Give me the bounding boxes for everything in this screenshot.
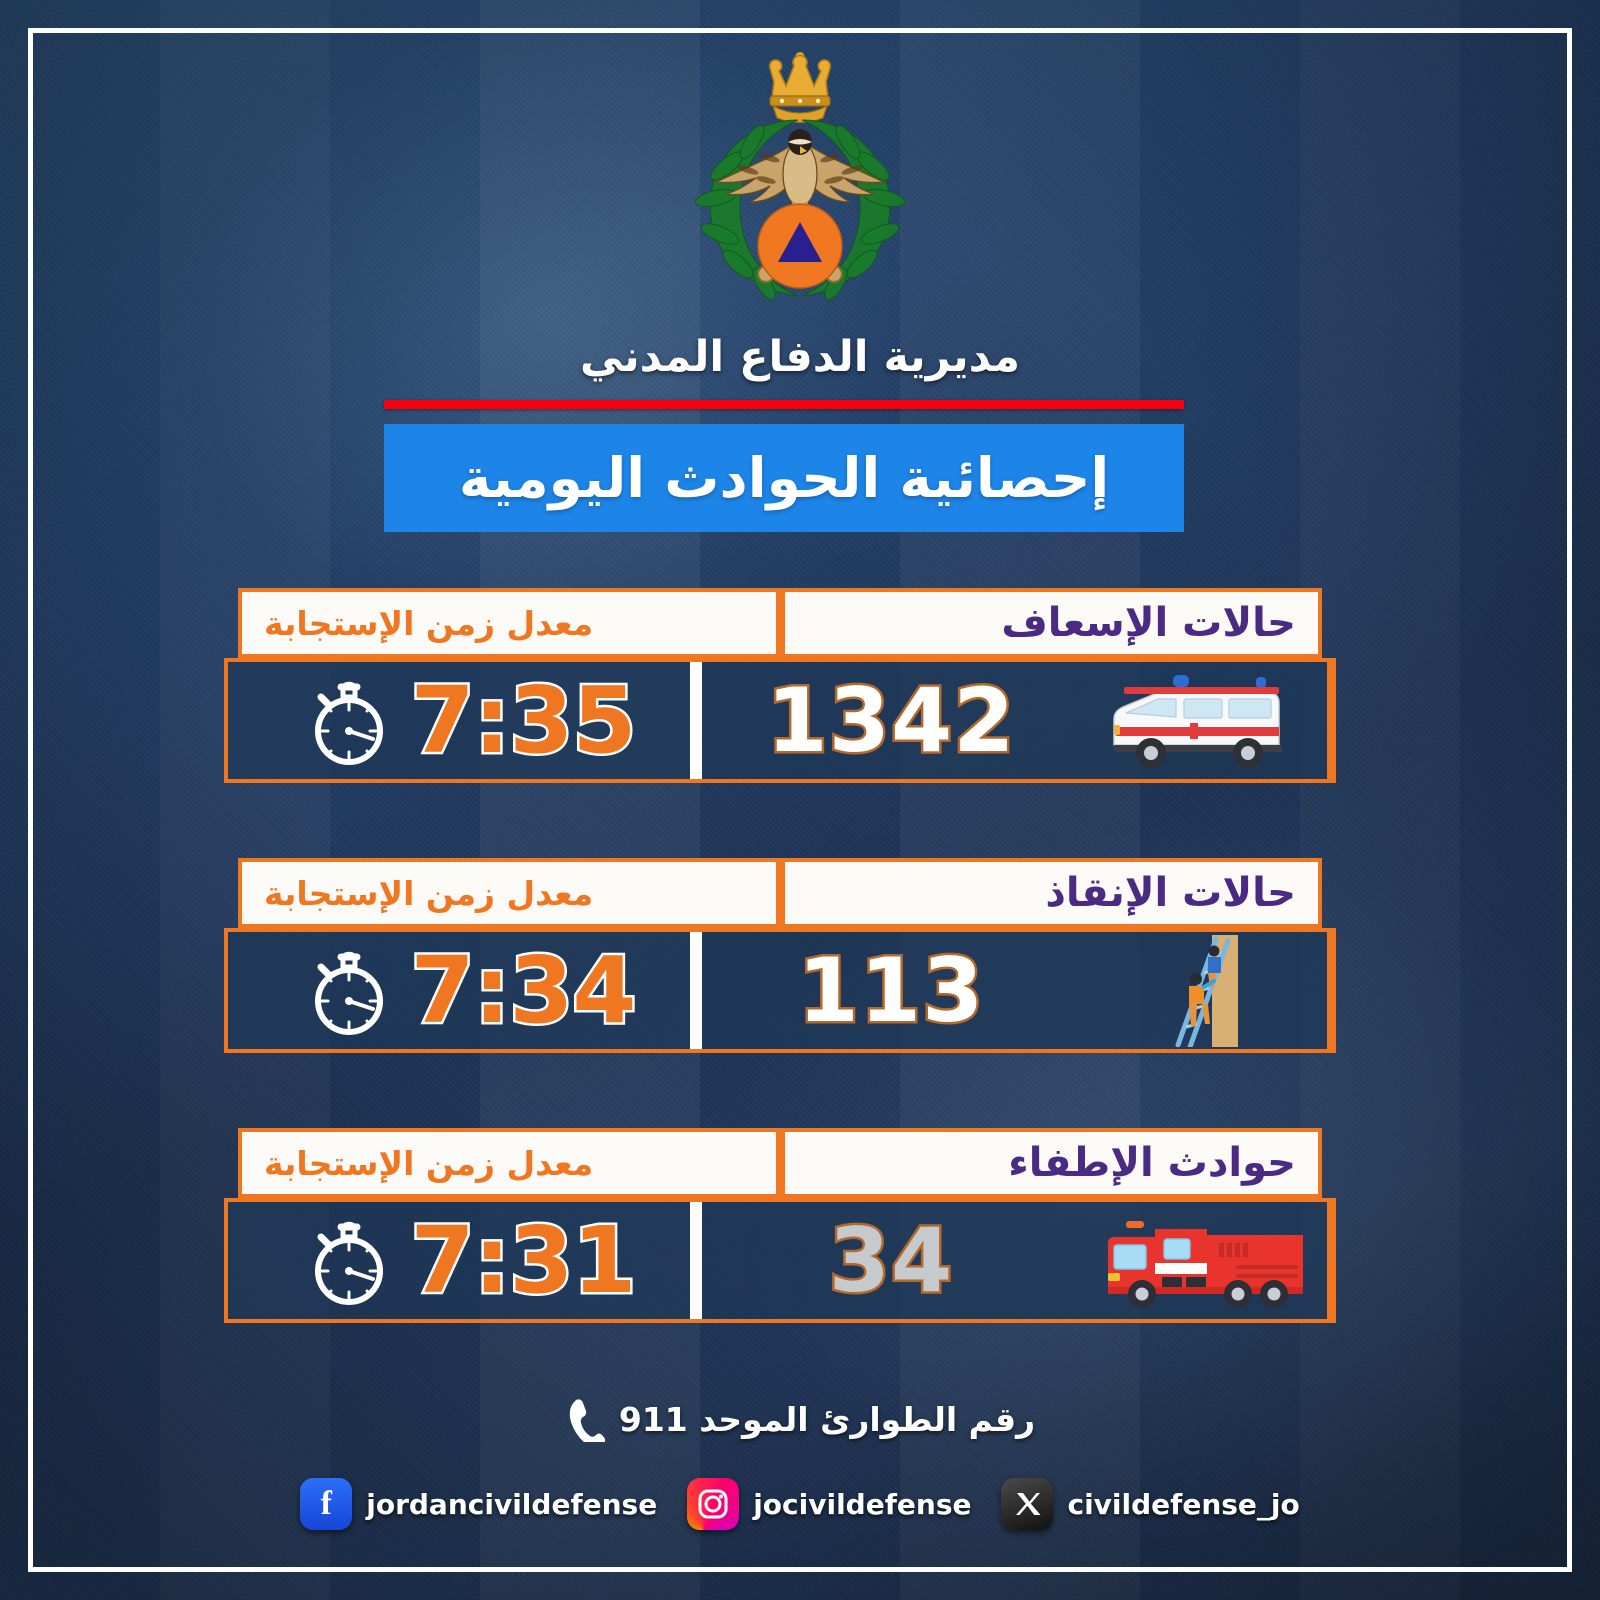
banner-title: إحصائية الحوادث اليومية xyxy=(459,446,1109,510)
fire-truck-icon xyxy=(1080,1202,1332,1319)
stat-row-header: حوادث الإطفاء معدل زمن الإستجابة xyxy=(238,1128,1322,1198)
stat-row-body: 113 7:34 xyxy=(224,928,1336,1053)
social-link-instagram[interactable]: jocivildefense xyxy=(687,1478,971,1530)
facebook-handle: jordancivildefense xyxy=(366,1488,657,1521)
count-cell: 1342 xyxy=(702,662,1080,779)
poster-content: مديرية الدفاع المدني إحصائية الحوادث الي… xyxy=(0,0,1600,1600)
response-time-label: معدل زمن الإستجابة xyxy=(264,1144,593,1183)
x-handle: civildefense_jo xyxy=(1067,1488,1299,1521)
stat-kind-label: حالات الإنقاذ xyxy=(1045,870,1296,916)
ambulance-icon: AMBULANCE xyxy=(1080,662,1332,779)
ladder-rescue-icon xyxy=(1080,932,1332,1049)
stat-row-body: AMBULANCE 1342 7:35 xyxy=(224,658,1336,783)
response-time-label: معدل زمن الإستجابة xyxy=(264,604,593,643)
emergency-number-block: رقم الطوارئ الموحد 911 xyxy=(0,1396,1600,1442)
x-glyph xyxy=(1013,1490,1041,1518)
x-twitter-icon xyxy=(1001,1478,1053,1530)
stat-count: 34 xyxy=(829,1217,953,1305)
header-divider xyxy=(776,1132,785,1194)
phone-icon xyxy=(565,1396,605,1442)
stat-row-fire: حوادث الإطفاء معدل زمن الإستجابة xyxy=(224,1128,1336,1323)
jordan-civil-defense-emblem xyxy=(670,46,930,316)
stat-row-header: حالات الإنقاذ معدل زمن الإستجابة xyxy=(238,858,1322,928)
count-cell: 113 xyxy=(702,932,1080,1049)
response-time-cell: 7:31 xyxy=(228,1202,690,1319)
emergency-number-text: رقم الطوارئ الموحد 911 xyxy=(619,1400,1035,1439)
kind-label-cell: حالات الإسعاف xyxy=(785,592,1319,654)
title-red-rule xyxy=(384,400,1184,409)
stat-row-header: حالات الإسعاف معدل زمن الإستجابة xyxy=(238,588,1322,658)
count-cell: 34 xyxy=(702,1202,1080,1319)
response-time-cell: 7:34 xyxy=(228,932,690,1049)
response-time-cell: 7:35 xyxy=(228,662,690,779)
social-link-facebook[interactable]: f jordancivildefense xyxy=(300,1478,657,1530)
civil-defense-triangle-icon xyxy=(758,204,842,288)
social-link-x[interactable]: civildefense_jo xyxy=(1001,1478,1299,1530)
stopwatch-icon xyxy=(303,1211,395,1311)
banner: إحصائية الحوادث اليومية xyxy=(384,424,1184,532)
kind-label-cell: حوادث الإطفاء xyxy=(785,1132,1319,1194)
stat-response-time: 7:31 xyxy=(411,1215,636,1307)
stat-response-time: 7:35 xyxy=(411,675,636,767)
stat-response-time: 7:34 xyxy=(411,945,636,1037)
header-divider xyxy=(776,592,785,654)
facebook-glyph: f xyxy=(321,1487,332,1521)
metric-label-cell: معدل زمن الإستجابة xyxy=(242,862,776,924)
page-title: مديرية الدفاع المدني xyxy=(0,332,1600,382)
instagram-glyph xyxy=(696,1487,730,1521)
instagram-icon xyxy=(687,1478,739,1530)
cell-separator xyxy=(690,932,702,1049)
header-divider xyxy=(776,862,785,924)
response-time-label: معدل زمن الإستجابة xyxy=(264,874,593,913)
kind-label-cell: حالات الإنقاذ xyxy=(785,862,1319,924)
cell-separator xyxy=(690,662,702,779)
stat-kind-label: حوادث الإطفاء xyxy=(1008,1140,1296,1186)
stopwatch-icon xyxy=(303,941,395,1041)
facebook-icon: f xyxy=(300,1478,352,1530)
stat-row-body: 34 7:31 xyxy=(224,1198,1336,1323)
stat-count: 1342 xyxy=(767,677,1016,765)
social-links: f jordancivildefense jocivildefense civi… xyxy=(0,1478,1600,1530)
stopwatch-icon xyxy=(303,671,395,771)
stat-kind-label: حالات الإسعاف xyxy=(1001,600,1296,646)
stat-row-ambulance: حالات الإسعاف معدل زمن الإستجابة xyxy=(224,588,1336,783)
metric-label-cell: معدل زمن الإستجابة xyxy=(242,1132,776,1194)
crown-icon xyxy=(770,52,831,123)
stat-count: 113 xyxy=(798,947,985,1035)
stat-row-rescue: حالات الإنقاذ معدل زمن الإستجابة xyxy=(224,858,1336,1053)
metric-label-cell: معدل زمن الإستجابة xyxy=(242,592,776,654)
instagram-handle: jocivildefense xyxy=(753,1488,971,1521)
cell-separator xyxy=(690,1202,702,1319)
svg-text:AMBULANCE: AMBULANCE xyxy=(1179,730,1224,737)
